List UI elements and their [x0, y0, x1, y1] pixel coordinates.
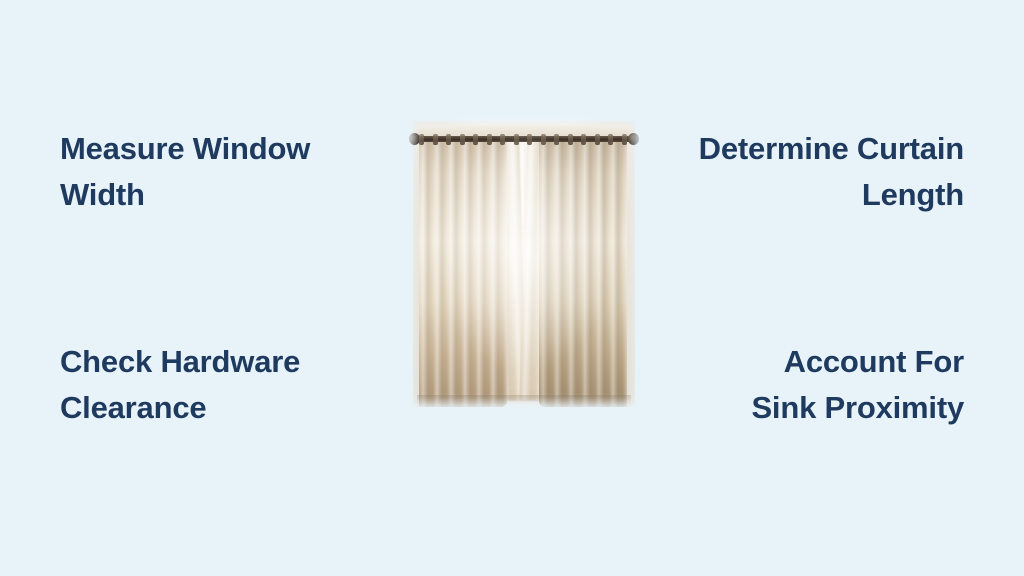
label-check-hardware-clearance: Check Hardware Clearance: [60, 339, 370, 431]
curtain-panel-right: [539, 131, 627, 407]
curtain-panel-left: [419, 131, 507, 407]
grommet-icon: [473, 134, 478, 145]
grommet-icon: [433, 134, 438, 145]
label-determine-curtain-length: Determine Curtain Length: [654, 126, 964, 218]
label-account-for-sink-proximity: Account For Sink Proximity: [654, 339, 964, 431]
curtain-hem-shadow: [417, 395, 631, 407]
slide-root: { "theme": { "background_color": "#e8f2f…: [0, 0, 1024, 576]
grommet-icon: [581, 134, 586, 145]
curtain-photo: [409, 117, 639, 407]
curtain-grommets: [419, 134, 627, 145]
grommet-icon: [500, 134, 505, 145]
grommet-icon: [487, 134, 492, 145]
grommet-icon: [622, 134, 627, 145]
label-measure-window-width: Measure Window Width: [60, 126, 370, 218]
grommet-icon: [541, 134, 546, 145]
grommet-icon: [608, 134, 613, 145]
grommet-icon: [514, 134, 519, 145]
grommet-icon: [554, 134, 559, 145]
grommet-icon: [527, 134, 532, 145]
grommet-icon: [446, 134, 451, 145]
curtain-rod-finial-right: [628, 133, 639, 145]
grommet-icon: [419, 134, 424, 145]
grommet-icon: [460, 134, 465, 145]
curtain-photo-inner: [409, 117, 639, 407]
grommet-icon: [595, 134, 600, 145]
grommet-icon: [568, 134, 573, 145]
